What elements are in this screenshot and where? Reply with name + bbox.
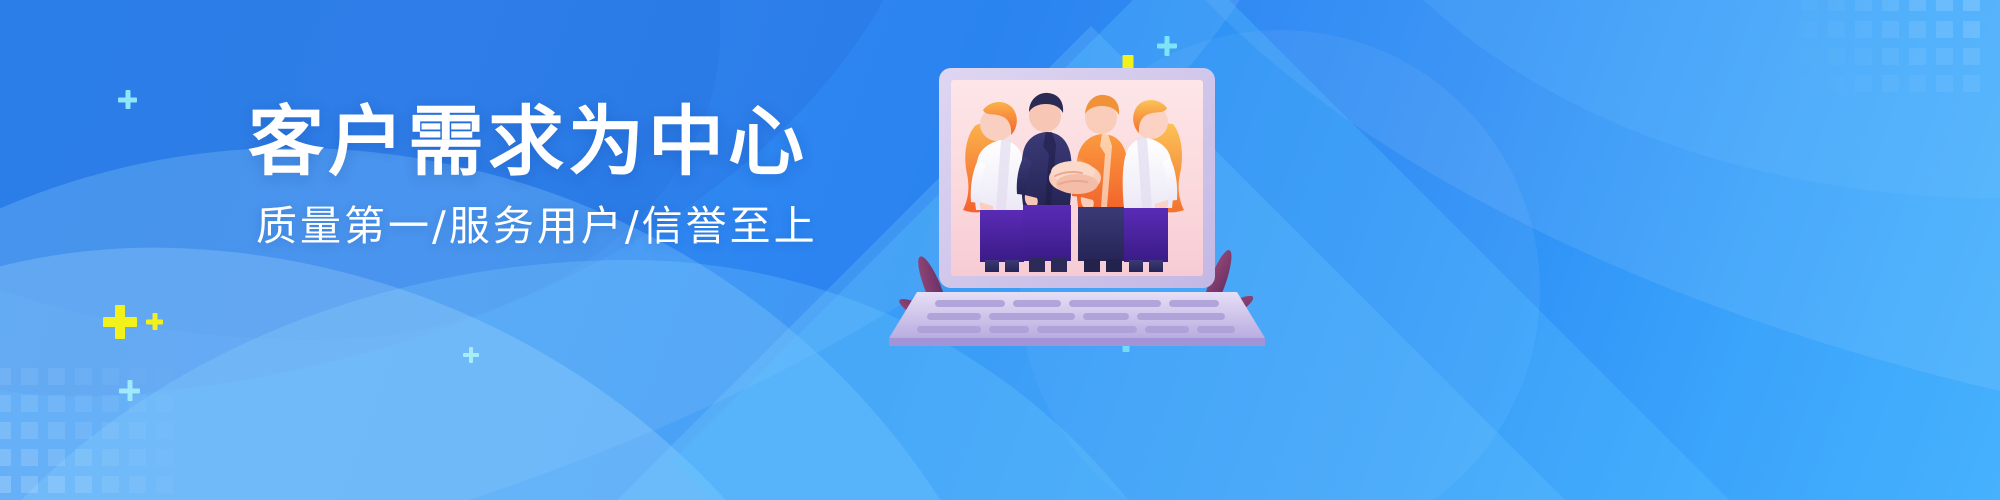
plus-icon-cyan-near-text bbox=[119, 380, 140, 401]
page-subtitle: 质量第一/服务用户/信誉至上 bbox=[256, 206, 948, 247]
banner-copy: 客户需求为中心 质量第一/服务用户/信誉至上 bbox=[248, 104, 948, 247]
plus-icon-yellow-tiny bbox=[146, 313, 163, 330]
dot-grid-top-right bbox=[1774, 0, 2000, 114]
plus-icon-cyan-left-upper bbox=[118, 90, 137, 109]
wave-shape-cyan-top-right bbox=[1285, 0, 2000, 300]
promo-banner: 客户需求为中心 质量第一/服务用户/信誉至上 bbox=[0, 0, 2000, 500]
dot-grid-bottom-left bbox=[0, 368, 214, 500]
plus-icon-yellow-bottom-left bbox=[103, 305, 137, 339]
laptop-illustration bbox=[905, 52, 1305, 352]
wave-shape-bottom-left-b bbox=[0, 213, 953, 500]
page-title: 客户需求为中心 bbox=[248, 104, 948, 180]
laptop-front-edge bbox=[889, 338, 1265, 346]
plus-icon-cyan-far-left bbox=[463, 347, 479, 363]
